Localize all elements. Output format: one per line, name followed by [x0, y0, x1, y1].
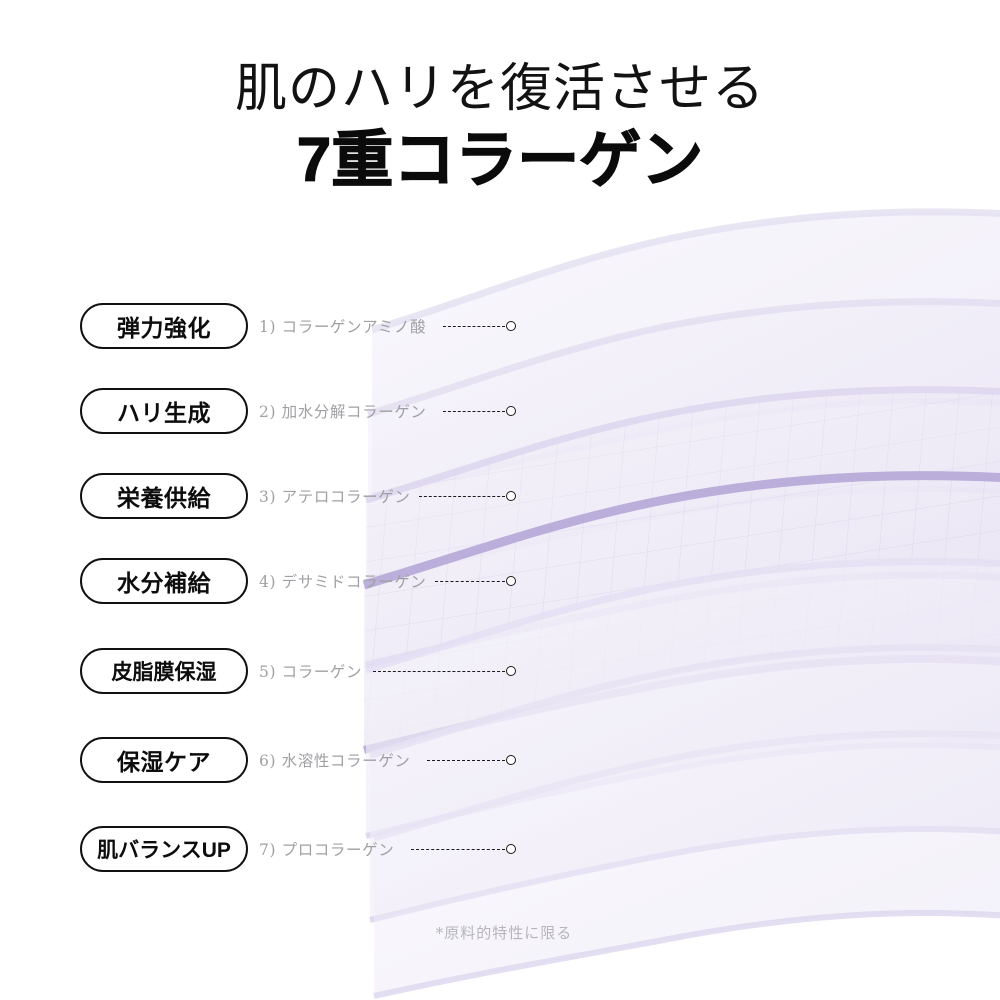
ingredient-label-4: 4) デサミドコラーゲン [259, 558, 427, 604]
leader-dash [427, 760, 505, 761]
benefit-badge-label: 皮脂膜保湿 [112, 656, 217, 686]
leader-line-5 [373, 648, 516, 694]
benefit-badge-6[interactable]: 保湿ケア [80, 737, 248, 783]
footnote-text: *原料的特性に限る [436, 924, 573, 942]
leader-knob-icon [506, 576, 516, 586]
ingredient-row: 栄養供給 3) アテロコラーゲン [0, 473, 560, 519]
leader-knob-icon [506, 844, 516, 854]
benefit-badge-label: 弾力強化 [117, 309, 211, 343]
leader-dash [419, 496, 505, 497]
leader-line-2 [443, 388, 516, 434]
leader-line-7 [411, 826, 516, 872]
ingredient-row: 水分補給 4) デサミドコラーゲン [0, 558, 560, 604]
leader-line-3 [419, 473, 516, 519]
leader-knob-icon [506, 755, 516, 765]
benefit-badge-label: 栄養供給 [117, 479, 211, 513]
ingredient-row: 弾力強化 1) コラーゲンアミノ酸 [0, 303, 560, 349]
benefit-badge-label: ハリ生成 [117, 394, 211, 428]
benefit-badge-3[interactable]: 栄養供給 [80, 473, 248, 519]
leader-knob-icon [506, 666, 516, 676]
benefit-badge-label: 保湿ケア [117, 743, 211, 777]
leader-knob-icon [506, 406, 516, 416]
benefit-badge-7[interactable]: 肌バランスUP [80, 826, 248, 872]
ingredient-label-7: 7) プロコラーゲン [259, 826, 394, 872]
leader-dash [435, 581, 505, 582]
ingredient-label-1: 1) コラーゲンアミノ酸 [259, 303, 426, 349]
poster-canvas: 肌のハリを復活させる 7重コラーゲン 弾力強化 1) コラーゲンアミノ酸 ハリ生… [0, 0, 1000, 1000]
leader-dash [443, 326, 505, 327]
ingredient-row-list: 弾力強化 1) コラーゲンアミノ酸 ハリ生成 2) 加水分解コラーゲン 栄養供給 [0, 0, 1000, 1000]
ingredient-row: ハリ生成 2) 加水分解コラーゲン [0, 388, 560, 434]
leader-dash [443, 411, 505, 412]
ingredient-label-6: 6) 水溶性コラーゲン [259, 737, 410, 783]
benefit-badge-label: 肌バランスUP [97, 834, 231, 864]
ingredient-label-5: 5) コラーゲン [259, 648, 362, 694]
leader-line-4 [435, 558, 516, 604]
footnote: *原料的特性に限る [0, 922, 1000, 943]
ingredient-row: 皮脂膜保湿 5) コラーゲン [0, 648, 560, 694]
benefit-badge-5[interactable]: 皮脂膜保湿 [80, 648, 248, 694]
ingredient-label-2: 2) 加水分解コラーゲン [259, 388, 427, 434]
ingredient-label-3: 3) アテロコラーゲン [259, 473, 410, 519]
leader-dash [373, 671, 505, 672]
leader-line-6 [427, 737, 516, 783]
leader-knob-icon [506, 491, 516, 501]
leader-line-1 [443, 303, 516, 349]
benefit-badge-2[interactable]: ハリ生成 [80, 388, 248, 434]
ingredient-row: 肌バランスUP 7) プロコラーゲン [0, 826, 560, 872]
leader-knob-icon [506, 321, 516, 331]
benefit-badge-4[interactable]: 水分補給 [80, 558, 248, 604]
benefit-badge-label: 水分補給 [117, 564, 211, 598]
leader-dash [411, 849, 505, 850]
benefit-badge-1[interactable]: 弾力強化 [80, 303, 248, 349]
ingredient-row: 保湿ケア 6) 水溶性コラーゲン [0, 737, 560, 783]
